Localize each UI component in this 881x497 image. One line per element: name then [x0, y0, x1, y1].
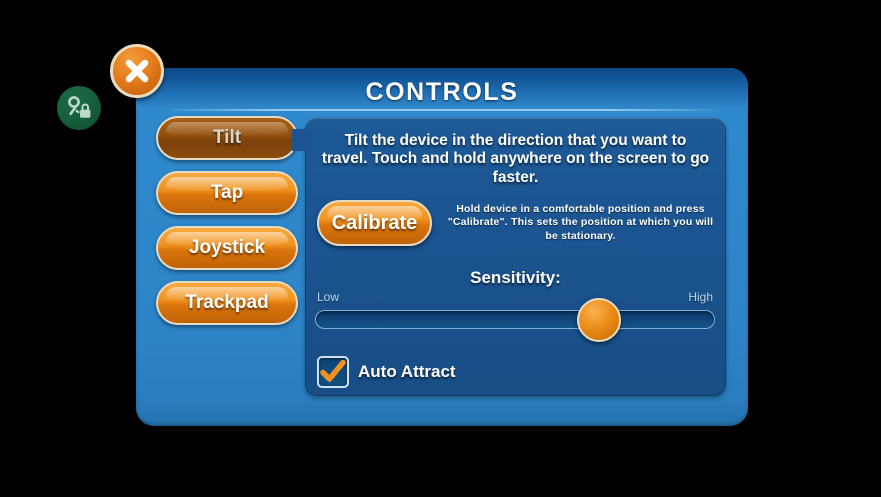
tab-tap-label: Tap — [211, 182, 243, 204]
close-button[interactable] — [110, 44, 164, 98]
title-separator — [170, 109, 714, 111]
slider-low-label: Low — [317, 290, 339, 304]
auto-attract-row[interactable]: Auto Attract — [317, 356, 456, 388]
sensitivity-slider[interactable]: Low High — [315, 290, 715, 342]
calibrate-button-label: Calibrate — [332, 212, 418, 235]
page-title: CONTROLS — [136, 78, 748, 107]
close-x-icon — [122, 56, 152, 86]
slider-high-label: High — [688, 290, 713, 304]
dialog-title-bar: CONTROLS — [136, 68, 748, 108]
tab-content-panel: Tilt the device in the direction that yo… — [305, 118, 726, 396]
key-lock-icon — [65, 94, 93, 122]
tab-joystick-label: Joystick — [189, 237, 265, 259]
checkmark-icon — [320, 360, 346, 384]
sensitivity-label: Sensitivity: — [305, 268, 726, 288]
calibrate-help-text: Hold device in a comfortable position an… — [444, 203, 717, 243]
tab-tilt-label: Tilt — [213, 127, 241, 149]
key-lock-badge[interactable] — [57, 86, 101, 130]
control-mode-tabs: Tilt Tap Joystick Trackpad — [156, 116, 302, 336]
slider-track[interactable] — [315, 310, 715, 329]
tab-trackpad-label: Trackpad — [185, 292, 268, 314]
auto-attract-label: Auto Attract — [358, 362, 456, 382]
tab-tilt[interactable]: Tilt — [156, 116, 298, 160]
tab-connector — [292, 129, 312, 151]
controls-dialog: CONTROLS Tilt Tap Joystick Trackpad Tilt… — [136, 68, 748, 426]
calibrate-row: Calibrate Hold device in a comfortable p… — [317, 200, 717, 246]
slider-knob[interactable] — [577, 298, 621, 342]
auto-attract-checkbox[interactable] — [317, 356, 349, 388]
tab-tap[interactable]: Tap — [156, 171, 298, 215]
mode-description: Tilt the device in the direction that yo… — [315, 132, 716, 187]
calibrate-button[interactable]: Calibrate — [317, 200, 432, 246]
tab-trackpad[interactable]: Trackpad — [156, 281, 298, 325]
tab-joystick[interactable]: Joystick — [156, 226, 298, 270]
